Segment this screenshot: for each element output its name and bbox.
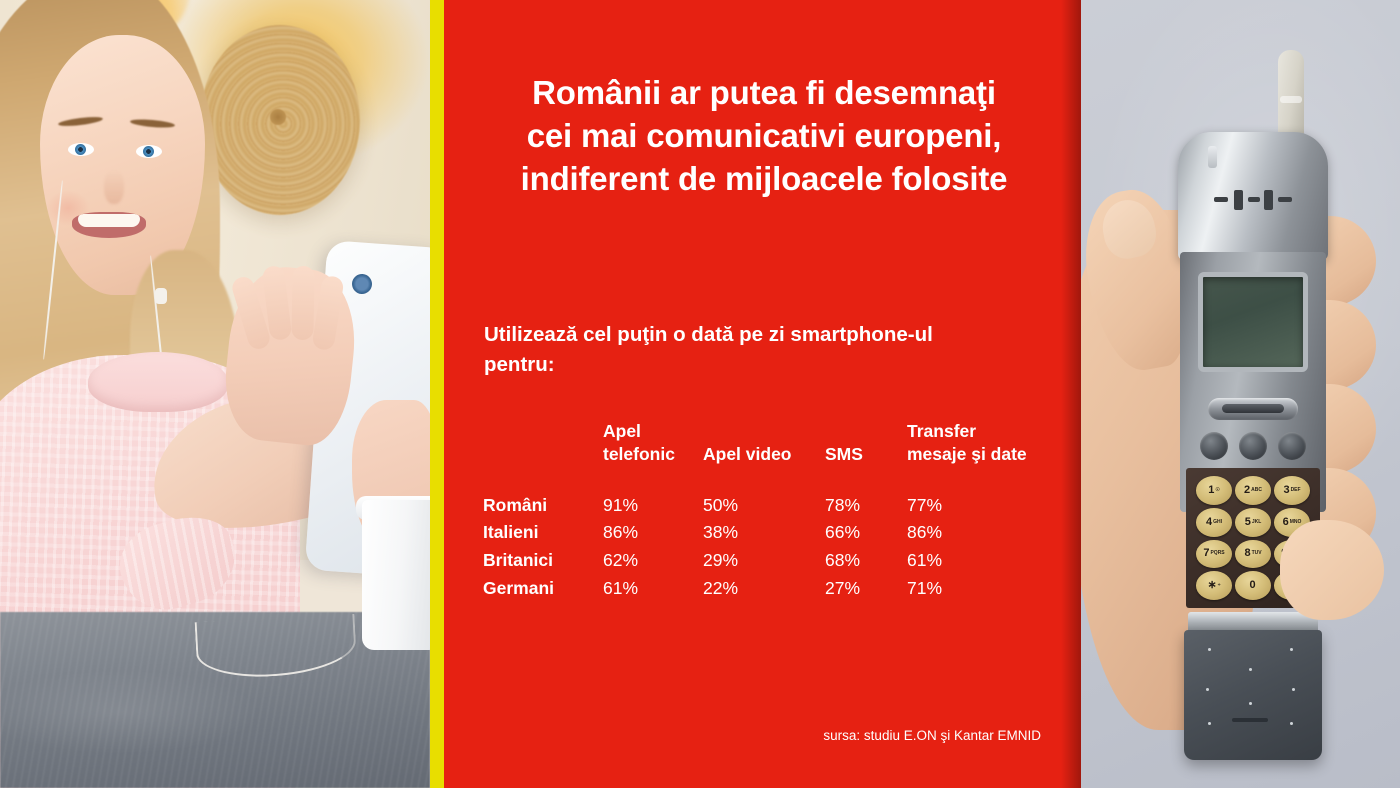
column-header-line-2: telefonic (603, 443, 703, 466)
table-row: Britanici 62% 29% 68% 61% (483, 549, 1063, 577)
subtitle: Utilizează cel puţin o dată pe zi smartp… (484, 320, 1044, 381)
screw-dot (1249, 702, 1252, 705)
cell-value: 62% (603, 549, 703, 577)
cell-value: 78% (825, 494, 907, 522)
red-content-panel: Românii ar putea fi desemnaţi cei mai co… (444, 0, 1081, 788)
mouth (72, 212, 146, 238)
coffee-cup (362, 500, 430, 650)
column-header-line-1: Apel (603, 420, 703, 443)
keypad-key-4[interactable]: 4 GHI (1196, 508, 1232, 537)
row-label-italieni: Italieni (483, 521, 603, 549)
nose (104, 170, 124, 204)
key-letters: ABC (1251, 488, 1262, 493)
key-number: 0 (1249, 580, 1255, 591)
table-row: Români 91% 50% 78% 77% (483, 494, 1063, 522)
headline-line-2: cei mai comunicativi europeni, (484, 115, 1044, 158)
lcd-screen (1198, 272, 1308, 372)
key-letters: JKL (1252, 520, 1261, 525)
subtitle-line-1: Utilizează cel puţin o dată pe zi smartp… (484, 320, 1044, 350)
screw-dot (1208, 722, 1211, 725)
microphone-icon (1232, 718, 1268, 722)
cell-value: 29% (703, 549, 825, 577)
infographic-slide: Românii ar putea fi desemnaţi cei mai co… (0, 0, 1400, 788)
key-letters: GHI (1213, 520, 1222, 525)
key-number: 7 (1203, 548, 1209, 559)
speaker-slot (1278, 197, 1292, 202)
eye-left (68, 143, 94, 156)
left-photo-woman-videocall (0, 0, 430, 788)
screw-dot (1206, 688, 1209, 691)
wooden-disc-decor-icon (200, 25, 360, 215)
key-letters: MNO (1290, 520, 1302, 525)
cell-value: 22% (703, 577, 825, 605)
cell-value: 86% (907, 521, 1063, 549)
speaker-slot (1264, 190, 1273, 210)
column-header-line-1: Transfer (907, 420, 1063, 443)
keypad-key-star[interactable]: ∗ ÷ (1196, 571, 1232, 600)
navigation-rocker-key[interactable] (1208, 398, 1298, 420)
column-header-transfer-mesaje: Transfer mesaje şi date (907, 420, 1063, 494)
key-letters: PQRS (1210, 551, 1224, 556)
key-number: 8 (1244, 548, 1250, 559)
headline-line-3: indiferent de mijloacele folosite (484, 158, 1044, 201)
cell-value: 50% (703, 494, 825, 522)
row-label-britanici: Britanici (483, 549, 603, 577)
cell-value: 66% (825, 521, 907, 549)
keypad-key-2[interactable]: 2 ABC (1235, 476, 1271, 505)
fingertip (1280, 520, 1384, 620)
keypad-key-5[interactable]: 5 JKL (1235, 508, 1271, 537)
cell-value: 27% (825, 577, 907, 605)
speaker-slot (1248, 197, 1260, 202)
subtitle-line-2: pentru: (484, 350, 1044, 380)
row-label-romani: Români (483, 494, 603, 522)
table-row: Germani 61% 22% 27% 71% (483, 577, 1063, 605)
eye-right (136, 145, 162, 158)
keypad-key-1[interactable]: 1 ☉ (1196, 476, 1232, 505)
keypad-key-8[interactable]: 8 TUV (1235, 540, 1271, 569)
column-header-line-2: mesaje şi date (907, 443, 1063, 466)
cell-value: 68% (825, 549, 907, 577)
cell-value: 38% (703, 521, 825, 549)
earpiece-speaker-icon (1214, 188, 1292, 210)
yellow-divider-stripe (430, 0, 444, 788)
flip-cover[interactable] (1184, 630, 1322, 760)
status-led-icon (1208, 146, 1217, 168)
soft-key-right[interactable] (1278, 432, 1306, 460)
key-number: 6 (1283, 517, 1289, 528)
column-header-line-2: Apel video (703, 443, 825, 466)
usage-statistics-table: Apel telefonic Apel video SMS Transfer m… (483, 420, 1063, 605)
speaker-slot (1214, 197, 1228, 202)
table-corner-header (483, 420, 603, 494)
key-number: 2 (1244, 485, 1250, 496)
cell-value: 77% (907, 494, 1063, 522)
key-letters: ÷ (1218, 583, 1221, 588)
keypad-key-3[interactable]: 3 DEF (1274, 476, 1310, 505)
soft-key-center[interactable] (1239, 432, 1267, 460)
source-credit: sursa: studiu E.ON şi Kantar EMNID (444, 728, 1041, 743)
key-number: 1 (1208, 485, 1214, 496)
table-header-row: Apel telefonic Apel video SMS Transfer m… (483, 420, 1063, 494)
sweater-collar (88, 352, 228, 412)
key-number: 5 (1245, 517, 1251, 528)
column-header-apel-video: Apel video (703, 420, 825, 494)
cell-value: 61% (603, 577, 703, 605)
table-row: Italieni 86% 38% 66% 86% (483, 521, 1063, 549)
screw-dot (1290, 722, 1293, 725)
soft-key-left[interactable] (1200, 432, 1228, 460)
key-letters: ☉ (1215, 488, 1219, 493)
key-number: 4 (1206, 517, 1212, 528)
key-number: ∗ (1208, 580, 1217, 591)
column-header-apel-telefonic: Apel telefonic (603, 420, 703, 494)
row-label-germani: Germani (483, 577, 603, 605)
keypad-key-7[interactable]: 7 PQRS (1196, 540, 1232, 569)
teeth (78, 214, 140, 227)
cell-value: 71% (907, 577, 1063, 605)
right-photo-retro-phone: 1 ☉ 2 ABC 3 DEF 4 GHI 5 JKL (1081, 0, 1400, 788)
column-header-line-1 (703, 420, 825, 443)
cell-value: 91% (603, 494, 703, 522)
keypad-key-0[interactable]: 0 (1235, 571, 1271, 600)
key-number: 3 (1283, 485, 1289, 496)
antenna-icon (1278, 50, 1304, 142)
headline: Românii ar putea fi desemnaţi cei mai co… (484, 72, 1044, 201)
column-header-line-1 (825, 420, 907, 443)
screw-dot (1292, 688, 1295, 691)
key-letters: DEF (1291, 488, 1301, 493)
earbud-icon (155, 288, 167, 304)
key-letters: TUV (1252, 551, 1262, 556)
column-header-sms: SMS (825, 420, 907, 494)
table-body: Români 91% 50% 78% 77% Italieni 86% 38% … (483, 494, 1063, 605)
table-head: Apel telefonic Apel video SMS Transfer m… (483, 420, 1063, 494)
speaker-slot (1234, 190, 1243, 210)
finger (291, 266, 314, 340)
soft-key-row (1200, 432, 1306, 462)
cell-value: 86% (603, 521, 703, 549)
screw-dot (1208, 648, 1211, 651)
headline-line-1: Românii ar putea fi desemnaţi (484, 72, 1044, 115)
cell-value: 61% (907, 549, 1063, 577)
column-header-line-2: SMS (825, 443, 907, 466)
screw-dot (1249, 668, 1252, 671)
screw-dot (1290, 648, 1293, 651)
